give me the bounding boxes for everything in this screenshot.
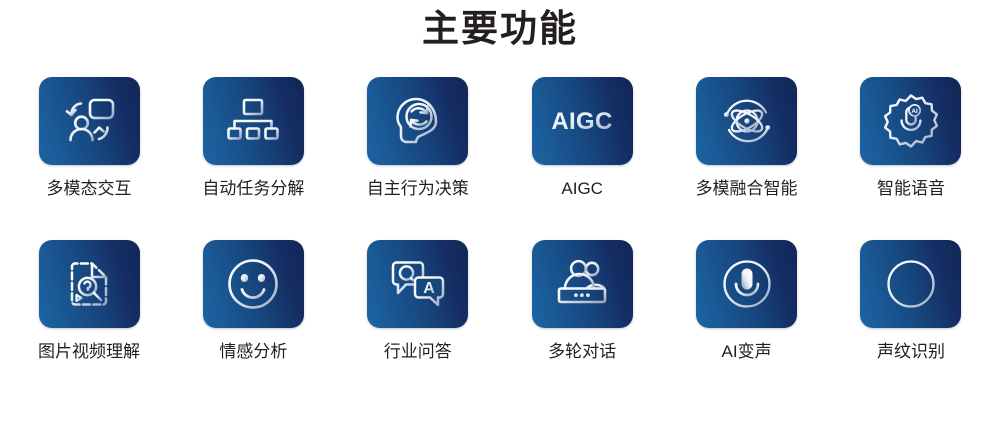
feature-tile[interactable]: [367, 77, 468, 165]
task-decomposition-hierarchy-icon: [227, 97, 279, 145]
feature-tile[interactable]: [860, 240, 961, 328]
feature-tile[interactable]: AI: [860, 77, 961, 165]
feature-overview-page: 主要功能: [0, 0, 1000, 447]
feature-row-1: 多模态交互: [12, 77, 988, 199]
microphone-circle-icon: [720, 257, 774, 311]
feature-label: 自动任务分解: [202, 179, 304, 199]
feature-item-industry-qa[interactable]: A 行业问答: [341, 240, 495, 362]
feature-item-task-decomposition[interactable]: 自动任务分解: [176, 77, 330, 199]
feature-label: AI变声: [722, 342, 772, 362]
feature-label: 自主行为决策: [367, 179, 469, 199]
feature-label: AIGC: [561, 179, 603, 199]
gear-microphone-ai-icon: AI: [884, 94, 938, 148]
feature-label: 智能语音: [877, 179, 945, 199]
smiley-face-icon: [226, 257, 280, 311]
feature-label: 行业问答: [384, 342, 452, 362]
voiceprint-waveform-circle-icon: [884, 257, 938, 311]
feature-tile[interactable]: [203, 77, 304, 165]
answer-letter-text: A: [423, 280, 435, 297]
feature-label: 图片视频理解: [38, 342, 140, 362]
atom-orbit-icon: [720, 94, 774, 148]
feature-label: 多模融合智能: [696, 179, 798, 199]
aigc-text-icon: AIGC: [546, 105, 618, 137]
feature-item-voiceprint-recognition[interactable]: 声纹识别: [834, 240, 988, 362]
feature-label: 声纹识别: [877, 342, 945, 362]
feature-tile[interactable]: [39, 77, 140, 165]
feature-row-2: 图片视频理解 情感分析: [12, 240, 988, 362]
head-refresh-decision-icon: [392, 95, 444, 147]
feature-tile[interactable]: [39, 240, 140, 328]
page-title: 主要功能: [0, 0, 1000, 52]
feature-label: 情感分析: [219, 342, 287, 362]
feature-tile[interactable]: [532, 240, 633, 328]
feature-label: 多轮对话: [548, 342, 616, 362]
feature-grid: 多模态交互: [0, 77, 1000, 362]
multi-person-dialogue-icon: [554, 260, 610, 308]
feature-tile[interactable]: A: [367, 240, 468, 328]
feature-tile[interactable]: AIGC: [532, 77, 633, 165]
feature-item-sentiment-analysis[interactable]: 情感分析: [176, 240, 330, 362]
feature-item-intelligent-voice[interactable]: AI 智能语音: [834, 77, 988, 199]
feature-label: 多模态交互: [47, 179, 132, 199]
aigc-text: AIGC: [552, 108, 613, 135]
ai-badge-text: AI: [911, 108, 918, 115]
feature-tile[interactable]: [696, 240, 797, 328]
document-search-question-icon: [65, 257, 113, 311]
feature-item-autonomous-decision[interactable]: 自主行为决策: [341, 77, 495, 199]
multimodal-interaction-icon: [61, 96, 117, 146]
feature-item-multimodal-interaction[interactable]: 多模态交互: [12, 77, 166, 199]
feature-item-multi-turn-dialogue[interactable]: 多轮对话: [505, 240, 659, 362]
qa-speech-bubbles-icon: A: [390, 259, 446, 309]
feature-item-multimodal-fusion[interactable]: 多模融合智能: [670, 77, 824, 199]
feature-item-ai-voice-changer[interactable]: AI变声: [670, 240, 824, 362]
feature-tile[interactable]: [203, 240, 304, 328]
feature-tile[interactable]: [696, 77, 797, 165]
feature-item-aigc[interactable]: AIGC AIGC: [505, 77, 659, 199]
feature-item-image-video-understanding[interactable]: 图片视频理解: [12, 240, 166, 362]
